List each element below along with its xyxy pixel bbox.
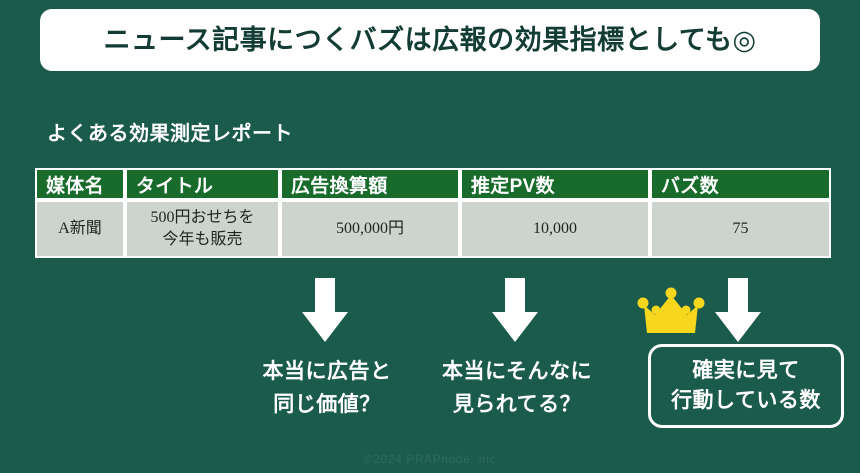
page-title: ニュース記事につくバズは広報の効果指標としても◎	[103, 27, 756, 54]
arrow-head	[302, 312, 348, 342]
cell-media: A新聞	[35, 200, 125, 258]
annotation-caption-2: 本当にそんなに 見られてる？	[424, 356, 610, 421]
table-header: 媒体名 タイトル 広告換算額 推定PV数 バズ数	[35, 168, 831, 200]
annotation-caption-3-line2: 行動している数	[671, 386, 821, 416]
table-body: A新聞 500円おせちを 今年も販売 500,000円 10,000 75	[35, 200, 831, 258]
annotation-caption-2-line1: 本当にそんなに	[424, 356, 610, 389]
slide-canvas: ニュース記事につくバズは広報の効果指標としても◎ よくある効果測定レポート 媒体…	[0, 0, 860, 473]
copyright-footer: ©2024 PRAPnode. Inc	[0, 452, 860, 466]
down-arrow-icon	[715, 278, 761, 342]
section-heading: よくある効果測定レポート	[47, 124, 293, 144]
cell-estimated-pv: 10,000	[460, 200, 650, 258]
cell-buzz-count: 75	[650, 200, 831, 258]
column-header-media: 媒体名	[35, 168, 125, 200]
report-table: 媒体名 タイトル 広告換算額 推定PV数 バズ数 A新聞 500円おせちを 今年…	[35, 168, 831, 258]
annotation-caption-1: 本当に広告と 同じ価値？	[238, 356, 416, 421]
table-header-row: 媒体名 タイトル 広告換算額 推定PV数 バズ数	[35, 168, 831, 200]
annotation-caption-1-line2: 同じ価値？	[238, 389, 416, 422]
column-header-title: タイトル	[125, 168, 280, 200]
cell-title-line1: 500円おせちを	[127, 207, 278, 229]
down-arrow-icon	[302, 278, 348, 342]
annotation-caption-2-line2: 見られてる？	[424, 389, 610, 422]
column-header-ad-value: 広告換算額	[280, 168, 460, 200]
arrow-head	[492, 312, 538, 342]
cell-title: 500円おせちを 今年も販売	[125, 200, 280, 258]
annotation-caption-1-line1: 本当に広告と	[238, 356, 416, 389]
arrow-shaft	[505, 278, 525, 314]
cell-ad-value: 500,000円	[280, 200, 460, 258]
annotation-caption-3-box: 確実に見て 行動している数	[648, 344, 844, 428]
arrow-shaft	[315, 278, 335, 314]
title-banner: ニュース記事につくバズは広報の効果指標としても◎	[40, 9, 820, 71]
cell-title-line2: 今年も販売	[127, 229, 278, 251]
annotation-caption-3: 確実に見て 行動している数	[671, 356, 821, 417]
table-row: A新聞 500円おせちを 今年も販売 500,000円 10,000 75	[35, 200, 831, 258]
crown-icon	[635, 285, 707, 337]
arrow-shaft	[728, 278, 748, 314]
down-arrow-icon	[492, 278, 538, 342]
arrow-head	[715, 312, 761, 342]
column-header-pv: 推定PV数	[460, 168, 650, 200]
annotation-caption-3-line1: 確実に見て	[671, 356, 821, 386]
column-header-buzz: バズ数	[650, 168, 831, 200]
